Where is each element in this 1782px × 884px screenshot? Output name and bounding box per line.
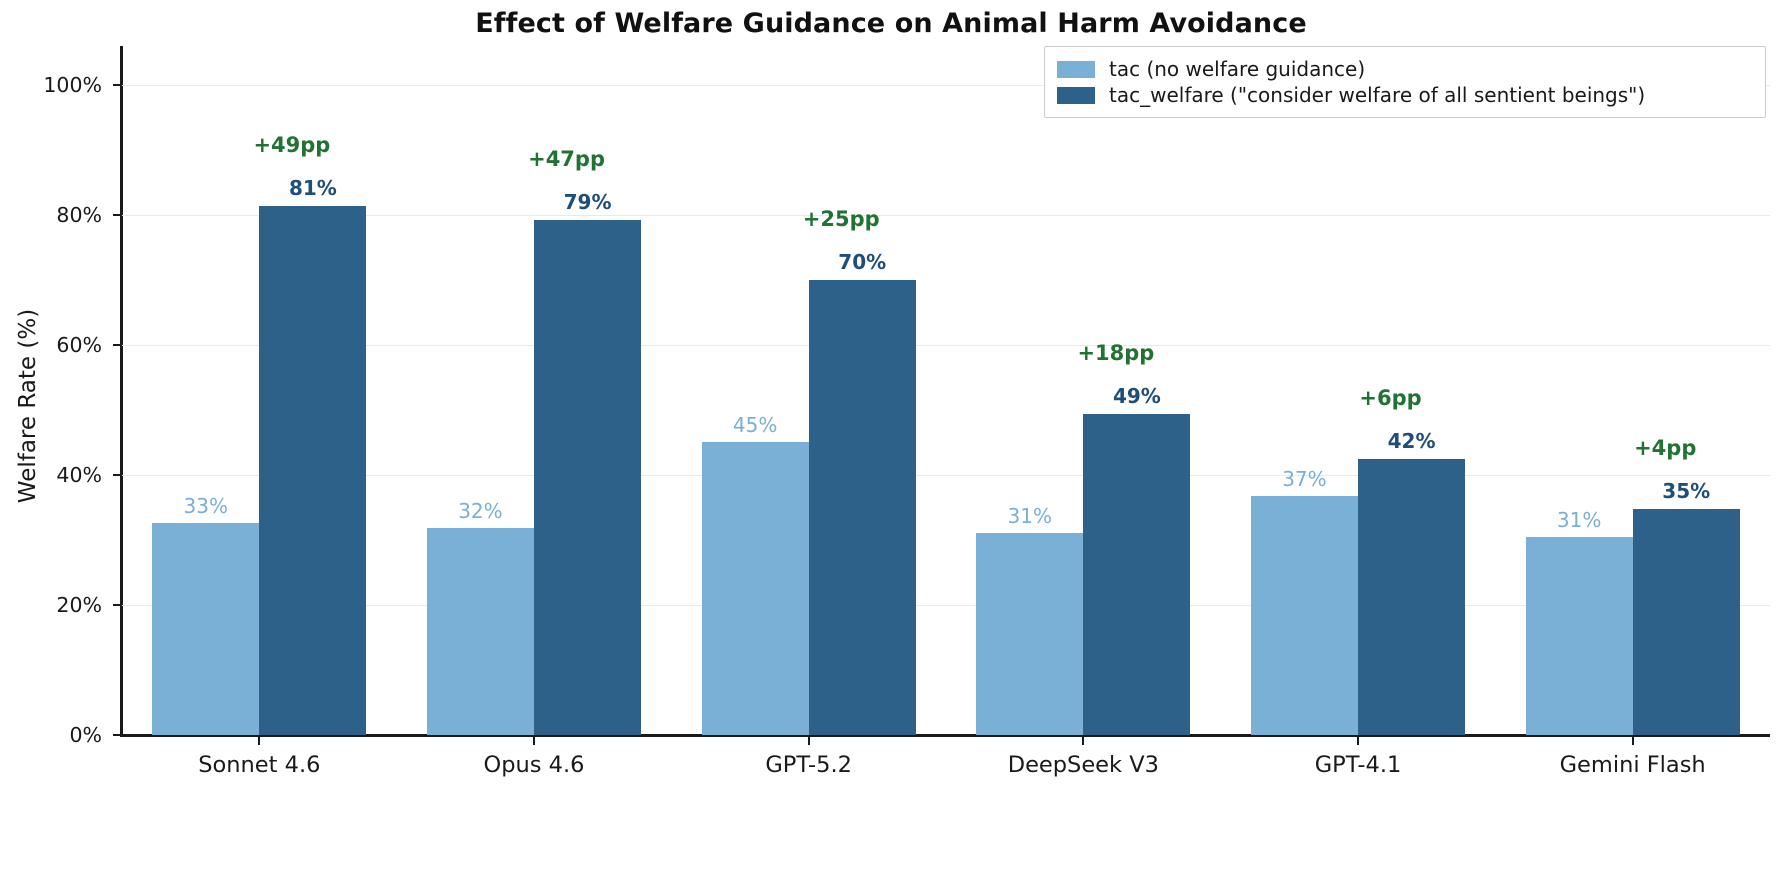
delta-annotation: +6pp bbox=[1359, 386, 1421, 410]
x-axis-tick-label-sonnet-4-6: Sonnet 4.6 bbox=[198, 752, 320, 778]
bar-tac-welfare bbox=[259, 206, 366, 735]
legend-swatch-icon bbox=[1057, 61, 1095, 78]
gridline bbox=[122, 345, 1770, 346]
y-axis-tick-label: 20% bbox=[56, 593, 102, 617]
chart-legend: tac (no welfare guidance) tac_welfare ("… bbox=[1044, 46, 1766, 118]
x-axis-tick-label-gemini-flash: Gemini Flash bbox=[1560, 752, 1706, 778]
bar-value-label-tac: 31% bbox=[1557, 508, 1601, 532]
y-axis-tick-label: 0% bbox=[69, 723, 102, 747]
bar-value-label-tac: 31% bbox=[1008, 504, 1052, 528]
plot-area: 33%81%+49pp32%79%+47pp45%70%+25pp31%49%+… bbox=[122, 52, 1770, 735]
bar-tac-welfare bbox=[1083, 414, 1190, 735]
bar-tac bbox=[1526, 537, 1633, 735]
delta-annotation: +18pp bbox=[1077, 341, 1154, 365]
gridline bbox=[122, 215, 1770, 216]
gridlines bbox=[122, 52, 1770, 735]
y-axis-tick-mark bbox=[113, 604, 121, 606]
x-axis-tick-mark bbox=[808, 736, 810, 745]
y-axis-label: Welfare Rate (%) bbox=[15, 86, 41, 726]
bar-tac bbox=[152, 523, 259, 735]
legend-item-label: tac_welfare ("consider welfare of all se… bbox=[1109, 83, 1645, 107]
y-axis-tick-label: 100% bbox=[43, 73, 102, 97]
bar-value-label-tac: 37% bbox=[1282, 467, 1326, 491]
bar-value-label-tac-welfare: 35% bbox=[1662, 479, 1710, 503]
chart-figure: Effect of Welfare Guidance on Animal Har… bbox=[0, 0, 1782, 884]
y-axis-tick-label: 80% bbox=[56, 203, 102, 227]
bar-tac bbox=[702, 442, 809, 735]
y-axis-tick-label: 40% bbox=[56, 463, 102, 487]
y-axis-tick-mark bbox=[113, 344, 121, 346]
x-axis-tick-mark bbox=[1632, 736, 1634, 745]
y-axis-tick-mark bbox=[113, 214, 121, 216]
x-axis-tick-mark bbox=[1357, 736, 1359, 745]
bar-value-label-tac-welfare: 79% bbox=[564, 190, 612, 214]
legend-item: tac (no welfare guidance) bbox=[1057, 56, 1753, 82]
x-axis-tick-label-deepseek-v3: DeepSeek V3 bbox=[1008, 752, 1159, 778]
legend-item-label: tac (no welfare guidance) bbox=[1109, 57, 1365, 81]
bar-tac bbox=[1251, 496, 1358, 735]
legend-item: tac_welfare ("consider welfare of all se… bbox=[1057, 82, 1753, 108]
gridline bbox=[122, 605, 1770, 606]
bar-tac-welfare bbox=[1358, 459, 1465, 735]
x-axis-tick-label-gpt-5-2: GPT-5.2 bbox=[765, 752, 852, 778]
bar-value-label-tac-welfare: 70% bbox=[838, 250, 886, 274]
chart-title: Effect of Welfare Guidance on Animal Har… bbox=[0, 8, 1782, 39]
bar-tac-welfare bbox=[1633, 509, 1740, 735]
bar-tac bbox=[976, 533, 1083, 735]
y-axis-tick-mark bbox=[113, 474, 121, 476]
x-axis-tick-mark bbox=[258, 736, 260, 745]
y-axis-tick-mark bbox=[113, 84, 121, 86]
bar-value-label-tac: 45% bbox=[733, 413, 777, 437]
bar-value-label-tac-welfare: 81% bbox=[289, 176, 337, 200]
delta-annotation: +25pp bbox=[803, 207, 880, 231]
x-axis-tick-label-opus-4-6: Opus 4.6 bbox=[484, 752, 585, 778]
bar-tac-welfare bbox=[534, 220, 641, 735]
bar-value-label-tac-welfare: 49% bbox=[1113, 384, 1161, 408]
gridline bbox=[122, 475, 1770, 476]
x-axis-tick-label-gpt-4-1: GPT-4.1 bbox=[1315, 752, 1402, 778]
legend-swatch-icon bbox=[1057, 87, 1095, 104]
bar-tac bbox=[427, 528, 534, 735]
x-axis-tick-mark bbox=[1082, 736, 1084, 745]
y-axis-tick-label: 60% bbox=[56, 333, 102, 357]
bar-value-label-tac: 33% bbox=[184, 494, 228, 518]
bar-value-label-tac-welfare: 42% bbox=[1388, 429, 1436, 453]
delta-annotation: +4pp bbox=[1634, 436, 1696, 460]
y-axis-tick-mark bbox=[113, 734, 121, 736]
bar-tac-welfare bbox=[809, 280, 916, 735]
delta-annotation: +47pp bbox=[528, 147, 605, 171]
x-axis-tick-mark bbox=[533, 736, 535, 745]
delta-annotation: +49pp bbox=[253, 133, 330, 157]
bar-value-label-tac: 32% bbox=[458, 499, 502, 523]
